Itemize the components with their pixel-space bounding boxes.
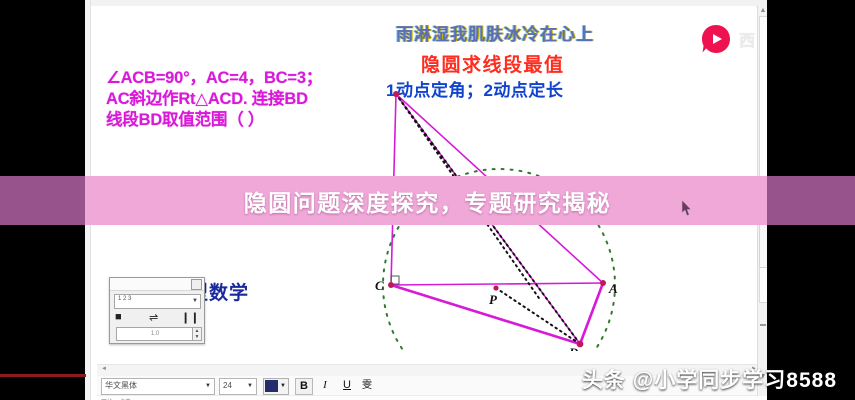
point-A (600, 280, 606, 286)
point-B (393, 91, 399, 97)
mini-player-select-value: 1 2 3 (118, 296, 131, 302)
point-C (388, 282, 394, 288)
caption-band: 隐圆问题深度探究，专题研究揭秘 (0, 176, 855, 225)
chevron-down-icon: ▼ (192, 298, 198, 304)
swap-icon[interactable]: ⇌ (149, 311, 158, 324)
mini-player-buttons[interactable]: ■ ⇌ ❙❙ (113, 310, 201, 325)
mini-player-dialog[interactable]: 1 2 3 ▼ ■ ⇌ ❙❙ 1.0 ▲▼ (109, 277, 205, 344)
mouse-cursor-icon (681, 200, 693, 222)
scroll-up-icon[interactable]: ▲ (758, 6, 767, 16)
mini-player-speed-stepper[interactable]: ▲▼ (192, 327, 202, 341)
point-P (493, 285, 498, 290)
label-P: P (489, 292, 498, 307)
caption-text: 隐圆问题深度探究，专题研究揭秘 (0, 176, 855, 225)
label-C: C (375, 278, 384, 293)
mini-player-titlebar[interactable] (110, 278, 204, 291)
scrollbar-grip (760, 324, 766, 326)
stop-icon[interactable]: ■ (115, 311, 122, 323)
mini-player-speed-field[interactable]: 1.0 (116, 327, 194, 341)
pause-icon[interactable]: ❙❙ (181, 311, 199, 324)
mini-player-select[interactable]: 1 2 3 ▼ (114, 294, 201, 309)
label-A: A (608, 281, 618, 296)
play-button-icon (701, 24, 731, 54)
video-player-screen: 雨淋湿我肌肤冰冷在心上 隐圆求线段最值 1动点定角；2动点定长 ∠ACB=90°… (0, 0, 855, 400)
headline-watermark: 头条 @小学同步学习8588 (0, 364, 855, 394)
label-D: D (568, 345, 579, 351)
karaoke-lyric-text: 雨淋湿我肌肤冰冷在心上 (396, 20, 594, 45)
mini-player-maximize-icon[interactable] (191, 279, 202, 290)
